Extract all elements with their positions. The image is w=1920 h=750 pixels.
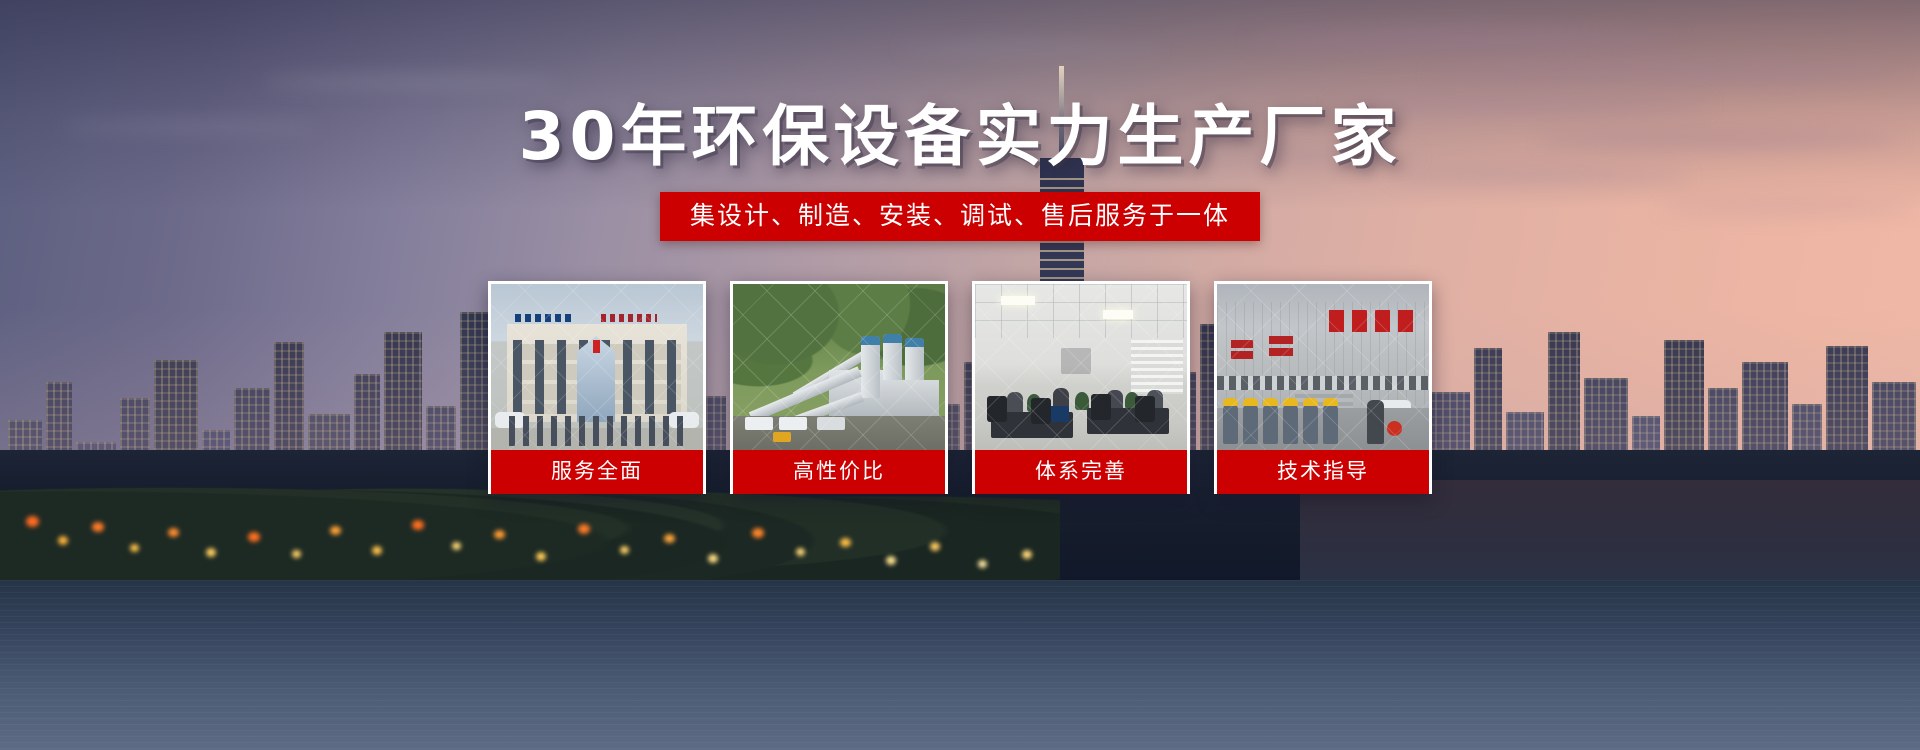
- card-caption: 服务全面: [491, 450, 703, 494]
- company-sign: [515, 314, 573, 322]
- subtitle-badge: 集设计、制造、安装、调试、售后服务于一体: [660, 192, 1260, 241]
- feature-card-service[interactable]: 服务全面: [488, 281, 706, 494]
- aerial-plant-photo: [733, 284, 945, 450]
- feature-card-list: 服务全面 高性价比: [0, 281, 1920, 494]
- staff-lineup: [509, 416, 685, 446]
- feature-card-guidance[interactable]: 技术指导: [1214, 281, 1432, 494]
- subtitle-container: 集设计、制造、安装、调试、售后服务于一体: [0, 192, 1920, 241]
- card-caption: 体系完善: [975, 450, 1187, 494]
- feature-card-value[interactable]: 高性价比: [730, 281, 948, 494]
- factory-slogan-sign: [1329, 310, 1421, 332]
- river-water: [0, 580, 1920, 750]
- office-interior-photo: [975, 284, 1187, 450]
- factory-workshop-photo: [1217, 284, 1429, 450]
- feature-card-system[interactable]: 体系完善: [972, 281, 1190, 494]
- card-caption: 高性价比: [733, 450, 945, 494]
- page-title: 30年环保设备实力生产厂家: [0, 104, 1920, 170]
- office-building-photo: [491, 284, 703, 450]
- hero-banner: 30年环保设备实力生产厂家 集设计、制造、安装、调试、售后服务于一体 服务全面: [0, 0, 1920, 750]
- card-caption: 技术指导: [1217, 450, 1429, 494]
- phone-number-sign: [601, 314, 657, 322]
